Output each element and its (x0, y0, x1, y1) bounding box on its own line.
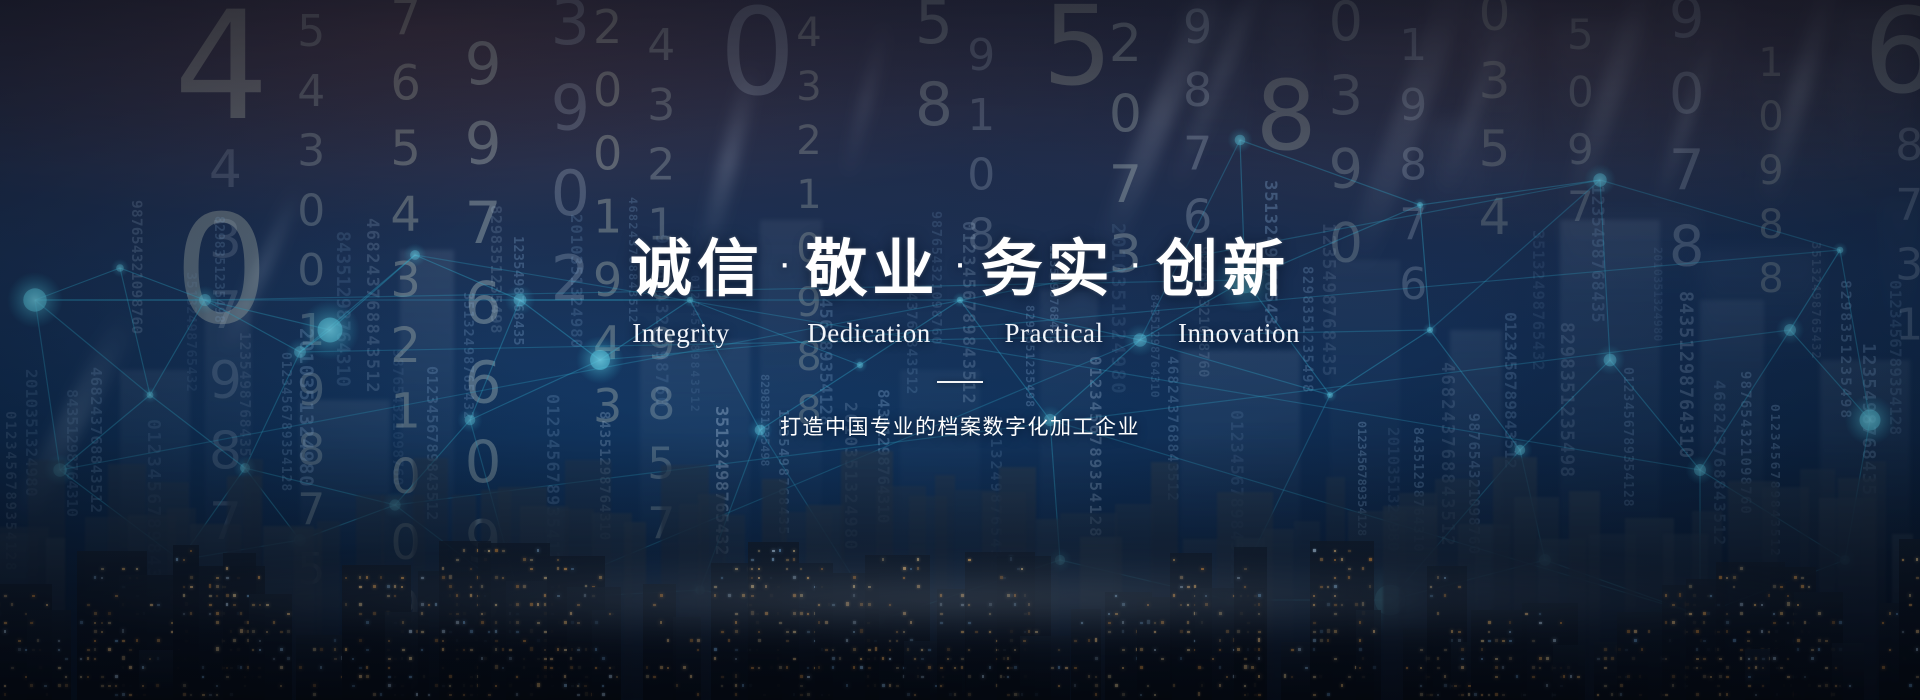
value-english-3: Innovation (1145, 318, 1333, 349)
value-headline-cn-1: 敬业 (805, 238, 939, 300)
headline-separator-0: · (764, 243, 805, 283)
value-headline-cn-3: 创新 (1156, 238, 1290, 300)
headline-separator-1: · (939, 243, 980, 283)
hero-banner: 4054300198754379876576543210098997660983… (0, 0, 1920, 700)
value-headline-cn-0: 诚信 (630, 238, 764, 300)
value-english-0: Integrity (587, 318, 775, 349)
values-headline: 诚信 · 敬业 · 务实 · 创新 (630, 238, 1290, 300)
value-english-1: Dedication (775, 318, 963, 349)
headline-separator-2: · (1115, 243, 1156, 283)
value-headline-cn-2: 务实 (981, 238, 1115, 300)
section-divider (937, 381, 983, 383)
banner-content: 诚信 · 敬业 · 务实 · 创新 Integrity Dedication P… (0, 0, 1920, 700)
banner-tagline: 打造中国专业的档案数字化加工企业 (780, 411, 1140, 441)
value-english-2: Practical (963, 318, 1145, 349)
values-english-row: Integrity Dedication Practical Innovatio… (587, 318, 1333, 349)
